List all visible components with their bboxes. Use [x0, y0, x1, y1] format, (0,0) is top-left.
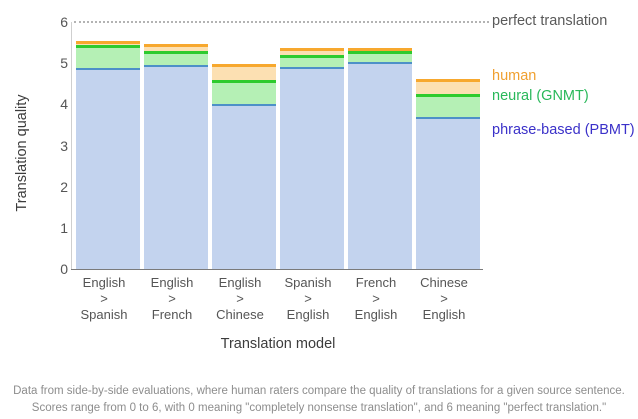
x-tick-label-4: French > English [341, 275, 411, 323]
x-tick-2-source: English [205, 275, 275, 291]
x-tick-1-target: French [137, 307, 207, 323]
x-tick-0-arrow: > [69, 291, 139, 307]
legend-item-human: human [492, 68, 536, 84]
x-tick-5-target: English [409, 307, 479, 323]
y-tick-2: 2 [40, 180, 68, 194]
bar-segment-pbmt-5[interactable] [416, 117, 480, 269]
x-axis-title: Translation model [0, 336, 556, 352]
x-tick-4-arrow: > [341, 291, 411, 307]
bar-segment-pbmt-0[interactable] [76, 68, 140, 269]
x-tick-2-arrow: > [205, 291, 275, 307]
bar-segment-pbmt-3[interactable] [280, 67, 344, 269]
perfect-translation-label: perfect translation [492, 13, 607, 29]
x-axis-line [71, 269, 483, 270]
x-tick-5-source: Chinese [409, 275, 479, 291]
caption-line-1: Data from side-by-side evaluations, wher… [0, 383, 638, 400]
y-tick-1: 1 [40, 221, 68, 235]
x-tick-2-target: Chinese [205, 307, 275, 323]
caption-line-2: Scores range from 0 to 6, with 0 meaning… [0, 400, 638, 417]
x-tick-3-source: Spanish [273, 275, 343, 291]
bar-segment-pbmt-1[interactable] [144, 65, 208, 269]
x-tick-3-target: English [273, 307, 343, 323]
y-axis-title: Translation quality [14, 53, 30, 253]
x-tick-0-source: English [69, 275, 139, 291]
x-tick-1-source: English [137, 275, 207, 291]
x-tick-5-arrow: > [409, 291, 479, 307]
x-tick-1-arrow: > [137, 291, 207, 307]
x-tick-4-source: French [341, 275, 411, 291]
legend-item-neural-gnmt: neural (GNMT) [492, 88, 589, 104]
translation-quality-chart: Translation quality 6 5 4 3 2 1 0 perfec… [0, 0, 638, 419]
y-tick-0: 0 [40, 262, 68, 276]
x-tick-4-target: English [341, 307, 411, 323]
y-tick-4: 4 [40, 97, 68, 111]
x-tick-label-2: English > Chinese [205, 275, 275, 323]
x-tick-label-5: Chinese > English [409, 275, 479, 323]
y-tick-5: 5 [40, 56, 68, 70]
y-tick-6: 6 [40, 15, 68, 29]
chart-caption: Data from side-by-side evaluations, wher… [0, 383, 638, 417]
bar-segment-pbmt-4[interactable] [348, 62, 412, 269]
y-tick-3: 3 [40, 139, 68, 153]
x-tick-0-target: Spanish [69, 307, 139, 323]
x-tick-label-1: English > French [137, 275, 207, 323]
bar-segment-pbmt-2[interactable] [212, 104, 276, 269]
x-tick-3-arrow: > [273, 291, 343, 307]
x-tick-label-3: Spanish > English [273, 275, 343, 323]
legend-item-phrase-based-pbmt: phrase-based (PBMT) [492, 122, 635, 138]
plot-area [72, 22, 484, 269]
x-tick-label-0: English > Spanish [69, 275, 139, 323]
